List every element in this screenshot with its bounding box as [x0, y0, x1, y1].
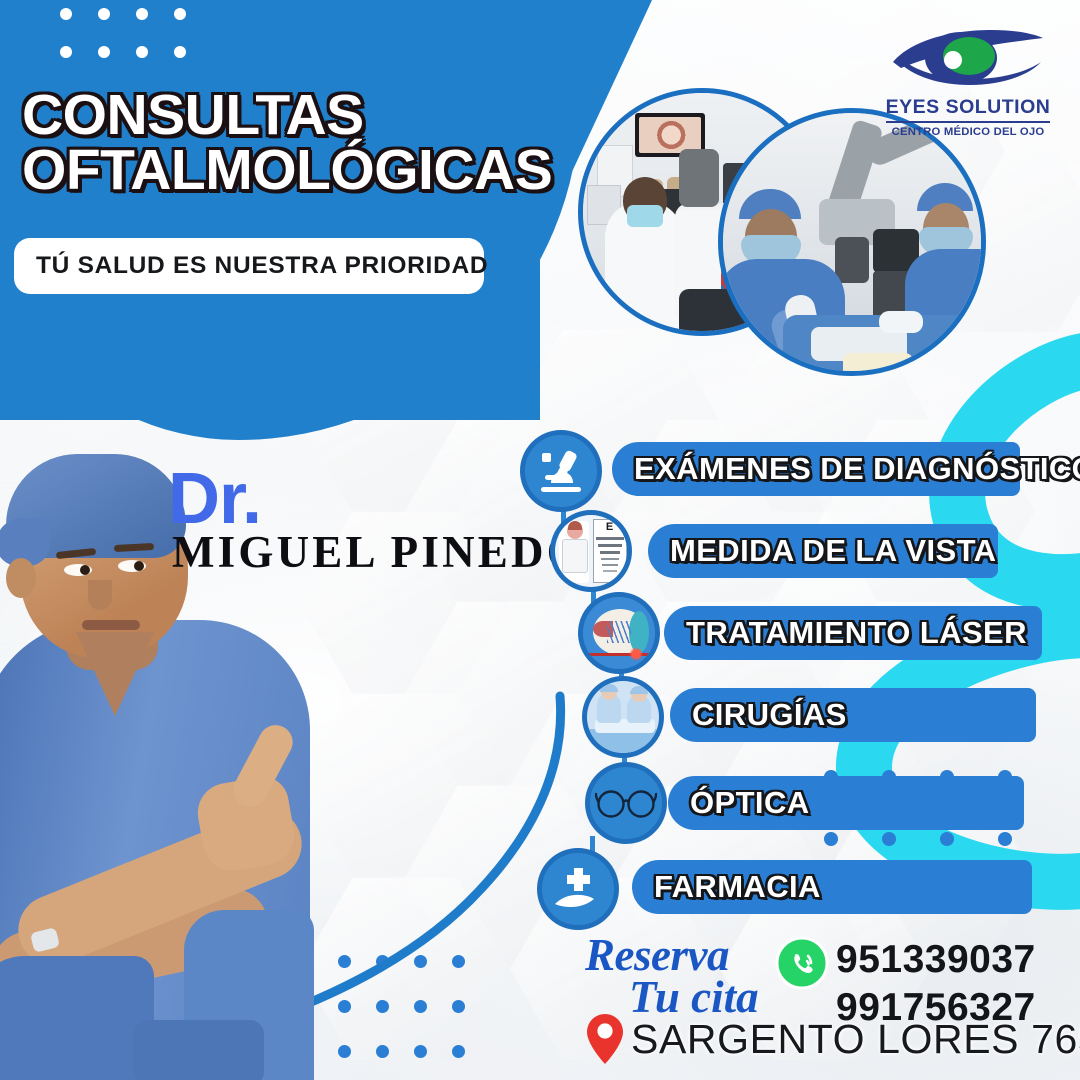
- logo-subtitle: CENTRO MÉDICO DEL OJO: [878, 126, 1058, 138]
- eyeglasses-glyph: [595, 786, 657, 820]
- service-bar[interactable]: MEDIDA DE LA VISTA: [648, 524, 998, 578]
- service-bar[interactable]: ÓPTICA: [668, 776, 1024, 830]
- service-bar[interactable]: TRATAMIENTO LÁSER: [664, 606, 1042, 660]
- eye-chart-icon: E: [550, 510, 632, 592]
- surgery-icon: [582, 676, 664, 758]
- address-row: SARGENTO LORES 765: [585, 1013, 1080, 1065]
- hand-cross-icon: [537, 848, 619, 930]
- tagline-text: TÚ SALUD ES NUESTRA PRIORIDAD: [36, 252, 488, 279]
- cta-line-1: Reserva: [585, 935, 759, 977]
- brand-logo: EYES SOLUTION CENTRO MÉDICO DEL OJO: [878, 16, 1058, 138]
- whatsapp-icon[interactable]: [775, 936, 829, 990]
- address-text: SARGENTO LORES 765: [631, 1016, 1080, 1063]
- eyeglasses-icon: [585, 762, 667, 844]
- service-label: MEDIDA DE LA VISTA: [670, 533, 996, 569]
- phone-number-1[interactable]: 951339037: [836, 936, 1016, 984]
- microscope-icon: [520, 430, 602, 512]
- poster-canvas: CONSULTAS OFTALMOLÓGICAS TÚ SALUD ES NUE…: [0, 0, 1080, 1080]
- tagline-pill: TÚ SALUD ES NUESTRA PRIORIDAD: [14, 238, 484, 294]
- service-label: EXÁMENES DE DIAGNÓSTICO: [634, 451, 1080, 487]
- service-bar[interactable]: EXÁMENES DE DIAGNÓSTICO: [612, 442, 1020, 496]
- service-bar[interactable]: FARMACIA: [632, 860, 1032, 914]
- photo-eye-surgery: [718, 108, 986, 376]
- service-label: ÓPTICA: [690, 785, 810, 821]
- cta-reserva: Reserva Tu cita: [585, 935, 759, 1019]
- dot-grid-header: [60, 8, 212, 84]
- eye-laser-icon: [578, 592, 660, 674]
- service-label: FARMACIA: [654, 869, 821, 905]
- service-label: CIRUGÍAS: [692, 697, 847, 733]
- service-label: TRATAMIENTO LÁSER: [686, 615, 1027, 651]
- map-pin-icon: [585, 1013, 625, 1065]
- logo-name: EYES SOLUTION: [886, 96, 1051, 123]
- headline-line-2: OFTALMOLÓGICAS: [22, 143, 582, 198]
- eye-logo-icon: [883, 16, 1053, 94]
- page-title: CONSULTAS OFTALMOLÓGICAS: [22, 88, 582, 199]
- service-bar[interactable]: CIRUGÍAS: [670, 688, 1036, 742]
- doctor-full-name: MIGUEL PINEDO: [172, 530, 585, 575]
